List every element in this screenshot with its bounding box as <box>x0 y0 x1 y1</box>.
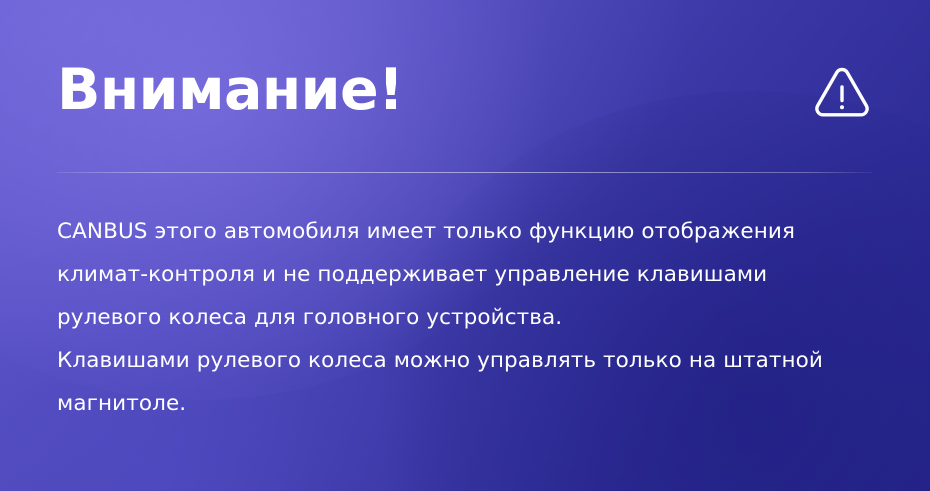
warning-message: CANBUS этого автомобиля имеет только фун… <box>57 210 890 425</box>
warning-triangle-icon <box>812 63 872 119</box>
message-line: Клавишами рулевого колеса можно управлят… <box>57 339 890 382</box>
header-divider <box>57 172 872 173</box>
message-line: магнитоле. <box>57 382 890 425</box>
page-title: Внимание! <box>57 61 403 121</box>
banner-header: Внимание! <box>57 48 874 134</box>
banner-content: Внимание! CANBUS этого автомобиля имеет … <box>0 0 930 491</box>
warning-banner: Внимание! CANBUS этого автомобиля имеет … <box>0 0 930 491</box>
message-line: CANBUS этого автомобиля имеет только фун… <box>57 210 890 253</box>
message-line: рулевого колеса для головного устройства… <box>57 296 890 339</box>
message-line: климат-контроля и не поддерживает управл… <box>57 253 890 296</box>
